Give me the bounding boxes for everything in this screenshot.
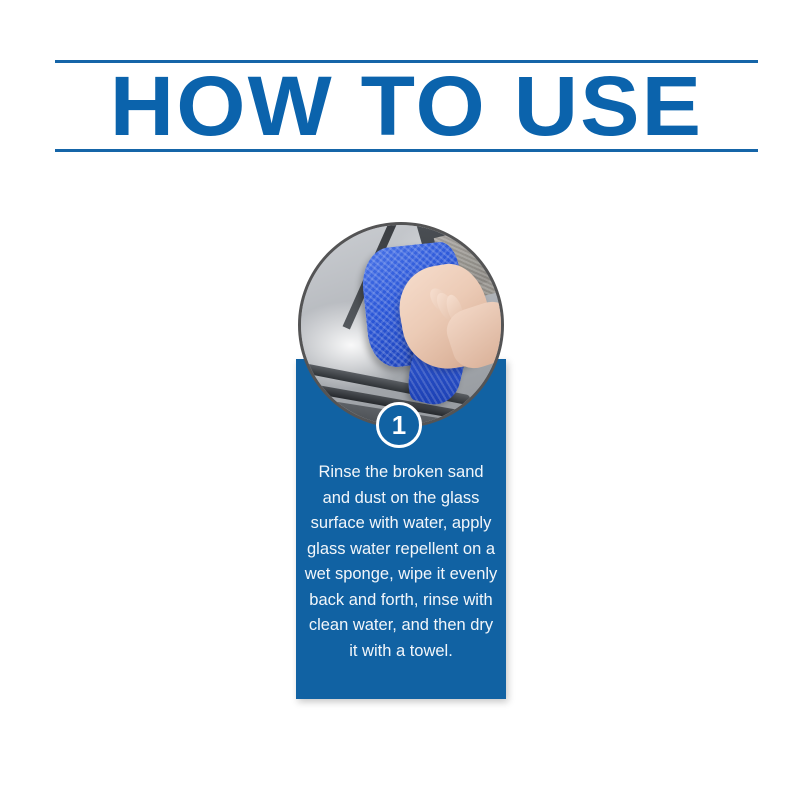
page-title: HOW TO USE (34, 63, 779, 149)
step-number-badge: 1 (376, 402, 422, 448)
step-card-1: 1 Rinse the broken sand and dust on the … (296, 222, 506, 702)
header-block: HOW TO USE (55, 60, 758, 152)
page-root: HOW TO USE (0, 0, 800, 800)
hand-wiping-windshield-photo (301, 225, 501, 425)
step-instruction-text: Rinse the broken sand and dust on the gl… (304, 460, 498, 664)
header-rule-bottom (55, 149, 758, 152)
step-photo-circle (298, 222, 504, 428)
